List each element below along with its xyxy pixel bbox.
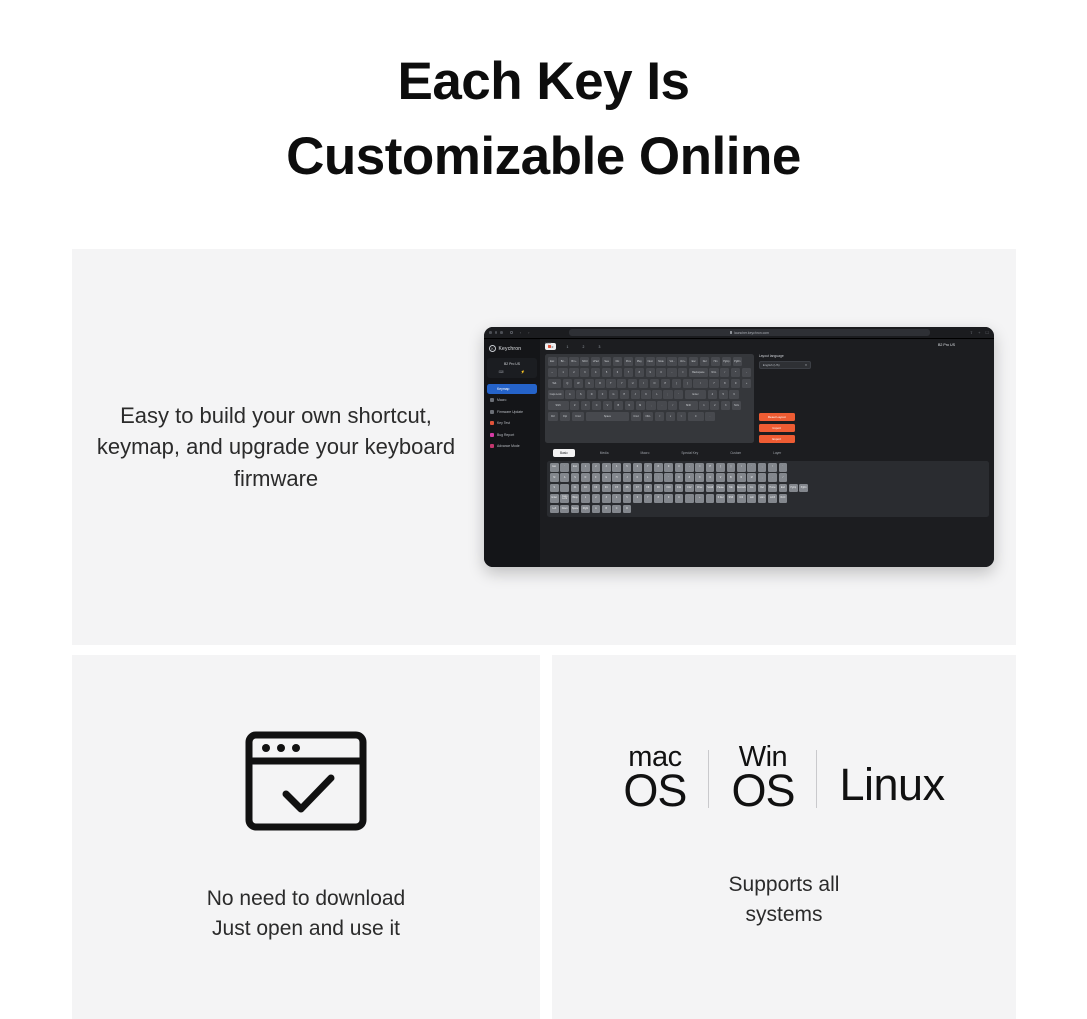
keyboard-key[interactable]: E (585, 379, 594, 389)
palette-key[interactable]: F (592, 473, 601, 482)
palette-key[interactable]: PgUp (789, 484, 798, 493)
palette-key[interactable]: N (737, 473, 746, 482)
palette-row: SF1F2F3F4F5F6F7F8F9F10F11F12PrtscScrollP… (550, 484, 986, 493)
palette-key[interactable]: Down (560, 505, 569, 514)
palette-key[interactable]: Enter (550, 494, 559, 503)
keyboard-key[interactable]: Opt (560, 412, 571, 422)
palette-row: MASDFGHJKL;'#ZXCVBNM,./ (550, 473, 986, 482)
palette-key[interactable]: K Del (716, 494, 725, 503)
sidebar-item-label: Advance Mode (497, 444, 520, 448)
palette-key[interactable]: 0 (675, 463, 684, 472)
browser-window-check-icon (244, 730, 368, 832)
bottom-card-row: No need to download Just open and use it… (72, 655, 1016, 1019)
keyboard-key[interactable]: S (576, 390, 585, 400)
sidebar-item-label: Keymap (497, 387, 509, 391)
palette-key[interactable]: Ctrl (737, 494, 746, 503)
keyboard-row: ~1234567890-=BackspaceNUL/*- (548, 368, 752, 378)
palette-key[interactable]: Home (768, 484, 777, 493)
layout-language-value: English (US) (763, 363, 780, 367)
keyboard-key[interactable]: 8 (635, 368, 644, 378)
palette-key[interactable]: 2 (592, 463, 601, 472)
palette-key[interactable]: X (695, 473, 704, 482)
palette-key[interactable]: F12 (685, 484, 694, 493)
keyboard-key[interactable]: Vol + (678, 357, 687, 367)
keyboard-key[interactable]: ; (663, 390, 672, 400)
brand-name: Keychron (499, 346, 522, 352)
marketing-page: Each Key Is Customizable Online Easy to … (0, 0, 1087, 1019)
palette-key[interactable]: B (727, 473, 736, 482)
app-screenshot-container: ‹ › launcher.keychron.com ⇧ + ☐ (462, 327, 1016, 567)
keyboard-key[interactable]: U (628, 379, 637, 389)
keyboard-key[interactable]: > (677, 412, 686, 422)
keychron-logo-icon: K (489, 345, 496, 352)
keyboard-key[interactable]: Dic (613, 357, 622, 367)
keyboard-key[interactable]: ~ (548, 368, 557, 378)
palette-key[interactable]: 1 (581, 494, 590, 503)
keymap-area: EscBri -Bri +MCtlLPadSeaDicPrevPlayNextM… (545, 354, 989, 443)
os-support-caption: Supports all systems (729, 870, 840, 931)
sidebar-item-label: Firmware Update (497, 410, 523, 414)
palette-key[interactable]: Ins (747, 484, 756, 493)
linux-logo: Linux (839, 759, 944, 812)
hero-description: Easy to build your own shortcut, keymap,… (72, 400, 462, 494)
keyboard-key[interactable]: 7 (624, 368, 633, 378)
minimize-icon[interactable] (495, 331, 498, 334)
brand: K Keychron (489, 345, 537, 352)
sidebar-item-advance-mode[interactable]: Advance Mode (487, 442, 537, 452)
keyboard-key[interactable]: 6 (729, 390, 738, 400)
palette-key[interactable]: F2 (581, 484, 590, 493)
keyboard-key[interactable]: Sea (602, 357, 611, 367)
device-card[interactable]: B2 Pro US ⌨ ⚡ (487, 358, 537, 378)
keyboard-key[interactable]: F (598, 390, 607, 400)
palette-key[interactable]: C (612, 505, 621, 514)
keyboard-key[interactable]: Esc (689, 357, 698, 367)
keyboard-key[interactable]: Vol - (667, 357, 676, 367)
palette-key[interactable]: 5 (623, 463, 632, 472)
panel-action-buttons[interactable]: Reset LayoutImportExport (759, 413, 851, 443)
keyboard-key[interactable]: R (595, 379, 604, 389)
keyboard-key[interactable]: / (720, 368, 729, 378)
keyboard-key[interactable]: Bri + (569, 357, 578, 367)
palette-key[interactable]: F9 (654, 484, 663, 493)
palette-key[interactable]: Shift (727, 494, 736, 503)
keyboard-key[interactable]: Mute (656, 357, 665, 367)
device-name: B2 Pro US (490, 362, 534, 366)
no-download-caption-line-1: No need to download (207, 884, 406, 914)
keyboard-key[interactable]: W (574, 379, 583, 389)
palette-key[interactable]: # (675, 473, 684, 482)
palette-key[interactable]: 9 (664, 463, 673, 472)
keyboard-key[interactable]: Y (617, 379, 626, 389)
palette-key[interactable]: [ (716, 463, 725, 472)
forward-arrow-icon[interactable]: › (528, 330, 529, 335)
keyboard-key[interactable]: 9 (731, 379, 740, 389)
device-actions[interactable]: ⌨ ⚡ (490, 370, 534, 374)
palette-key[interactable]: Del (758, 484, 767, 493)
palette-key[interactable]: , (758, 463, 767, 472)
keyboard-row: EscBri -Bri +MCtlLPadSeaDicPrevPlayNextM… (548, 357, 752, 367)
palette-key[interactable]: End (779, 484, 788, 493)
palette-row: EnterCaps LockBksp1234567890.+K DelShift… (550, 494, 986, 503)
keyboard-key[interactable]: I (639, 379, 648, 389)
keyboard-key[interactable]: Shift (679, 401, 698, 411)
keyboard-key[interactable]: NUL (732, 401, 741, 411)
palette-key[interactable]: C (706, 473, 715, 482)
no-download-card: No need to download Just open and use it (72, 655, 540, 1019)
palette-key[interactable]: Lshft (768, 494, 777, 503)
keyboard-key[interactable]: , (646, 401, 655, 411)
palette-key[interactable]: = (695, 463, 704, 472)
keyboard-key[interactable]: Bri - (558, 357, 567, 367)
keyboard-key[interactable]: [ (672, 379, 681, 389)
palette-key[interactable]: Rctrl (779, 494, 788, 503)
tab-basic[interactable]: Basic (553, 449, 575, 457)
keyboard-key[interactable]: G (609, 390, 618, 400)
keyboard-key[interactable]: ' (674, 390, 683, 400)
keyboard-key[interactable]: D (587, 390, 596, 400)
keyboard-key[interactable]: M (636, 401, 645, 411)
palette-key[interactable]: 4 (612, 463, 621, 472)
palette-key[interactable]: Lalt (747, 494, 756, 503)
app-main: Layer 0123 B2 Pro US EscBri -Bri +MCtlLP… (540, 339, 994, 567)
keyboard-key[interactable]: C (592, 401, 601, 411)
keyboard-key[interactable]: - (742, 368, 751, 378)
layer-label: Layer (545, 342, 552, 345)
palette-key[interactable]: S (571, 473, 580, 482)
keyboard-key[interactable]: 4 (591, 368, 600, 378)
page-title: Each Key Is Customizable Online (0, 0, 1087, 195)
palette-key[interactable]: Esc (550, 463, 559, 472)
keyboard-key[interactable]: Z (570, 401, 579, 411)
keyboard-row: TabQWERTYUIOP[]\789+ (548, 379, 752, 389)
palette-key[interactable]: ' (664, 473, 673, 482)
keyboard-key[interactable]: + (742, 379, 751, 389)
sidebar-item-icon (490, 410, 494, 414)
keyboard-key[interactable]: 7 (709, 379, 718, 389)
sidebar-item-icon (490, 444, 494, 448)
sidebar-item-icon (490, 421, 494, 425)
keyboard-key[interactable]: T (606, 379, 615, 389)
palette-key[interactable]: A (592, 505, 601, 514)
keyboard-key[interactable]: 9 (646, 368, 655, 378)
palette-key[interactable]: 3 (602, 463, 611, 472)
tabs-icon[interactable]: ☐ (985, 330, 989, 335)
url-text: launcher.keychron.com (734, 331, 769, 335)
tab-media[interactable]: Media (593, 449, 616, 457)
palette-key[interactable]: ` (779, 463, 788, 472)
keyboard-key[interactable]: MCtl (580, 357, 589, 367)
tab-special-key[interactable]: Special Key (674, 449, 705, 457)
palette-key[interactable]: 5 (623, 494, 632, 503)
sidebar-toggle-icon[interactable] (510, 331, 513, 334)
keyboard-key[interactable]: . (705, 412, 714, 422)
chevron-down-icon: ▾ (805, 363, 807, 367)
keyboard-key[interactable]: Cmd (572, 412, 584, 422)
keycode-palette[interactable]: Esc`Esc1234567890-=P[]\`,/`MASDFGHJKL;'#… (547, 461, 989, 518)
keyboard-key[interactable]: NUL (643, 412, 654, 422)
os-logo-row: mac OS Win OS Linux (623, 744, 944, 812)
browser-toolbar-icons[interactable]: ⇧ + ☐ (970, 330, 989, 335)
keyboard-key[interactable]: NUL (709, 368, 718, 378)
keyboard-key[interactable]: Prev (624, 357, 633, 367)
app-body: K Keychron B2 Pro US ⌨ ⚡ KeymapMacroFir (484, 339, 994, 567)
palette-key[interactable]: F4 (602, 484, 611, 493)
palette-key[interactable]: 7 (644, 463, 653, 472)
palette-key[interactable]: / (768, 463, 777, 472)
palette-key[interactable]: F10 (664, 484, 673, 493)
palette-key[interactable]: 8 (654, 494, 663, 503)
keyboard-key[interactable]: 2 (569, 368, 578, 378)
keyboard-key[interactable]: 3 (721, 401, 730, 411)
palette-key[interactable]: . (685, 494, 694, 503)
palette-key[interactable]: F5 (612, 484, 621, 493)
keyboard-key[interactable]: V (603, 401, 612, 411)
sidebar-item-firmware-update[interactable]: Firmware Update (487, 407, 537, 417)
palette-key[interactable]: F6 (623, 484, 632, 493)
layer-tab-3[interactable]: 3 (595, 345, 604, 349)
plug-icon[interactable]: ⚡ (521, 370, 525, 374)
sidebar-nav: KeymapMacroFirmware UpdateKey TestBug Re… (487, 384, 537, 451)
keyboard-key[interactable]: N (625, 401, 634, 411)
palette-key[interactable]: F7 (633, 484, 642, 493)
palette-key[interactable] (706, 494, 715, 503)
window-controls[interactable]: ‹ › (489, 330, 529, 335)
right-panel: Layout language English (US) ▾ Reset Lay… (759, 354, 851, 443)
keyboard-key[interactable]: 6 (613, 368, 622, 378)
sidebar-item-keymap[interactable]: Keymap (487, 384, 537, 394)
palette-key[interactable]: K (633, 473, 642, 482)
keyboard-key[interactable]: = (678, 368, 687, 378)
keyboard-key[interactable]: 0 (656, 368, 665, 378)
sidebar-item-key-test[interactable]: Key Test (487, 419, 537, 429)
palette-key[interactable]: Lwin (758, 494, 767, 503)
palette-key[interactable]: 2 (592, 494, 601, 503)
import-button[interactable]: Import (759, 424, 795, 432)
palette-key[interactable]: F1 (571, 484, 580, 493)
keyboard-key[interactable]: Del (700, 357, 709, 367)
keyboard-key[interactable]: X (581, 401, 590, 411)
palette-key[interactable]: Tab (727, 484, 736, 493)
keyboard-key[interactable]: Ctrl (548, 412, 559, 422)
sidebar-item-macro[interactable]: Macro (487, 396, 537, 406)
keyboard-key[interactable]: K (641, 390, 650, 400)
palette-key[interactable]: , (758, 473, 767, 482)
palette-key[interactable]: 7 (644, 494, 653, 503)
keyboard-key[interactable]: PgDn (733, 357, 742, 367)
main-header: 0123 B2 Pro US (545, 343, 989, 354)
keyboard-key[interactable]: . (657, 401, 666, 411)
keyboard-key[interactable]: Shift (548, 401, 569, 411)
palette-key[interactable]: Esc (571, 463, 580, 472)
keyboard-key[interactable]: O (650, 379, 659, 389)
palette-key[interactable]: H (612, 473, 621, 482)
palette-key[interactable]: Z (685, 473, 694, 482)
layer-tab-1[interactable]: 1 (563, 345, 572, 349)
keyboard-key[interactable]: * (731, 368, 740, 378)
palette-key[interactable]: F3 (592, 484, 601, 493)
palette-key[interactable]: 6 (633, 494, 642, 503)
keyboard-key[interactable]: Tab (548, 379, 562, 389)
palette-key[interactable]: M (550, 473, 559, 482)
keyboard-key[interactable]: - (667, 368, 676, 378)
keyboard-key[interactable]: Backspace (689, 368, 708, 378)
palette-key[interactable]: G (602, 473, 611, 482)
palette-row: Esc`Esc1234567890-=P[]\`,/` (550, 463, 986, 472)
os-divider (816, 750, 817, 808)
palette-key[interactable]: A (560, 473, 569, 482)
browser-url-bar[interactable]: launcher.keychron.com (569, 329, 929, 336)
palette-key[interactable]: 1 (581, 463, 590, 472)
palette-key[interactable]: PgDn (799, 484, 808, 493)
hero-card: Easy to build your own shortcut, keymap,… (72, 249, 1016, 645)
keyboard-key[interactable]: 5 (719, 390, 728, 400)
keyboard-key[interactable]: Esc (548, 357, 557, 367)
keyboard-layout[interactable]: EscBri -Bri +MCtlLPadSeaDicPrevPlayNextM… (545, 354, 754, 443)
keyboard-key[interactable]: 0 (688, 412, 704, 422)
keyboard-key[interactable]: PgUp (722, 357, 731, 367)
no-download-caption-line-2: Just open and use it (207, 914, 406, 944)
reset-layout-button[interactable]: Reset Layout (759, 413, 795, 421)
layer-tab-list[interactable]: 0123 (545, 343, 604, 350)
keychron-launcher-window: ‹ › launcher.keychron.com ⇧ + ☐ (484, 327, 994, 567)
keyboard-key[interactable]: Play (635, 357, 644, 367)
keyboard-key[interactable]: H (620, 390, 629, 400)
palette-key[interactable]: Prtsc (695, 484, 704, 493)
keyboard-key[interactable]: 2 (710, 401, 719, 411)
keyboard-key[interactable]: 3 (580, 368, 589, 378)
palette-key[interactable]: F8 (644, 484, 653, 493)
layout-language-select[interactable]: English (US) ▾ (759, 361, 811, 369)
palette-key[interactable]: / (779, 473, 788, 482)
palette-key[interactable]: J (623, 473, 632, 482)
keyboard-row: Caps LockASDFGHJKL;'Enter456 (548, 390, 752, 400)
headline-line-2: Customizable Online (0, 119, 1087, 194)
sidebar-item-label: Bug Report (497, 433, 514, 437)
layer-tab-2[interactable]: 2 (579, 345, 588, 349)
tab-custom[interactable]: Custom (723, 449, 748, 457)
keyboard-key[interactable]: Cmd (631, 412, 642, 422)
lock-icon (730, 331, 732, 334)
share-icon[interactable]: ⇧ (970, 330, 973, 335)
os-support-caption-line-1: Supports all (729, 870, 840, 900)
export-button[interactable]: Export (759, 435, 795, 443)
palette-key[interactable]: 9 (664, 494, 673, 503)
keyboard-key[interactable]: 5 (602, 368, 611, 378)
palette-key[interactable]: Right (581, 505, 590, 514)
palette-key[interactable]: B (602, 505, 611, 514)
layout-language-label: Layout language (759, 354, 851, 358)
palette-key[interactable]: + (695, 494, 704, 503)
keyboard-key[interactable]: J (631, 390, 640, 400)
palette-key[interactable]: 8 (654, 463, 663, 472)
keyboard-key[interactable]: Enter (685, 390, 706, 400)
palette-key[interactable]: ; (654, 473, 663, 482)
keyboard-key[interactable]: Caps Lock (548, 390, 564, 400)
palette-key[interactable]: P (706, 463, 715, 472)
palette-key[interactable]: Space (571, 505, 580, 514)
keyboard-key[interactable]: 1 (558, 368, 567, 378)
tab-macro[interactable]: Macro (633, 449, 656, 457)
palette-key[interactable]: S (550, 484, 559, 493)
keyboard-key[interactable]: Hm (711, 357, 720, 367)
keyboard-row: CtrlOptCmdSpaceCmdNUL<v>0. (548, 412, 752, 422)
palette-key[interactable]: 4 (612, 494, 621, 503)
palette-key[interactable]: ` (560, 463, 569, 472)
keyboard-key[interactable]: L (652, 390, 661, 400)
new-tab-icon[interactable]: + (978, 330, 980, 335)
keyboard-key[interactable]: LPad (591, 357, 600, 367)
sidebar-item-label: Macro (497, 398, 506, 402)
palette-key[interactable]: 0 (675, 494, 684, 503)
palette-key[interactable]: Caps Lock (560, 494, 569, 503)
feature-card-grid: Easy to build your own shortcut, keymap,… (72, 249, 1016, 1019)
winos-logo: Win OS (731, 744, 794, 812)
app-sidebar: K Keychron B2 Pro US ⌨ ⚡ KeymapMacroFir (484, 339, 540, 567)
palette-key[interactable]: V (716, 473, 725, 482)
tab-layer[interactable]: Layer (766, 449, 788, 457)
no-download-caption: No need to download Just open and use it (207, 884, 406, 945)
palette-key[interactable]: D (581, 473, 590, 482)
keyboard-icon[interactable]: ⌨ (499, 370, 504, 374)
palette-key[interactable]: . (768, 473, 777, 482)
keyboard-key[interactable]: P (661, 379, 670, 389)
sidebar-item-bug-report[interactable]: Bug Report (487, 430, 537, 440)
sidebar-item-icon (490, 433, 494, 437)
palette-key[interactable]: F11 (675, 484, 684, 493)
keyboard-key[interactable]: Next (646, 357, 655, 367)
keyboard-key[interactable]: Space (586, 412, 629, 422)
close-icon[interactable] (489, 331, 492, 334)
palette-key[interactable]: - (685, 463, 694, 472)
keyboard-key[interactable]: \ (693, 379, 707, 389)
keycode-category-tabs[interactable]: BasicMediaMacroSpecial KeyCustomLayer (553, 449, 989, 457)
keyboard-key[interactable]: Q (563, 379, 572, 389)
palette-key[interactable]: 3 (602, 494, 611, 503)
palette-key[interactable]: M (747, 473, 756, 482)
keyboard-key[interactable]: 1 (699, 401, 708, 411)
headline-line-1: Each Key Is (397, 52, 689, 111)
keyboard-key[interactable]: 8 (720, 379, 729, 389)
palette-key[interactable]: D (623, 505, 632, 514)
keyboard-key[interactable]: ] (683, 379, 692, 389)
macos-logo-bottom: OS (623, 770, 686, 811)
palette-row: LeftDownSpaceRightABCD (550, 505, 986, 514)
palette-key[interactable]: Left (550, 505, 559, 514)
palette-key[interactable]: \ (737, 463, 746, 472)
sidebar-item-icon (490, 398, 494, 402)
winos-logo-bottom: OS (731, 770, 794, 811)
palette-key[interactable]: Scroll (706, 484, 715, 493)
palette-key[interactable] (560, 484, 569, 493)
back-arrow-icon[interactable]: ‹ (520, 330, 521, 335)
palette-key[interactable]: Pause (716, 484, 725, 493)
keyboard-key[interactable]: B (614, 401, 623, 411)
palette-key[interactable]: ] (727, 463, 736, 472)
palette-key[interactable]: Numlock (737, 484, 746, 493)
maximize-icon[interactable] (500, 331, 503, 334)
palette-key[interactable]: Bksp (571, 494, 580, 503)
palette-key[interactable]: 6 (633, 463, 642, 472)
keyboard-key[interactable]: < (655, 412, 664, 422)
keyboard-key[interactable]: / (668, 401, 677, 411)
os-divider (708, 750, 709, 808)
keyboard-key[interactable]: v (666, 412, 675, 422)
palette-key[interactable]: ` (747, 463, 756, 472)
keyboard-key[interactable]: 4 (708, 390, 717, 400)
keyboard-key[interactable]: A (565, 390, 574, 400)
palette-key[interactable]: L (644, 473, 653, 482)
